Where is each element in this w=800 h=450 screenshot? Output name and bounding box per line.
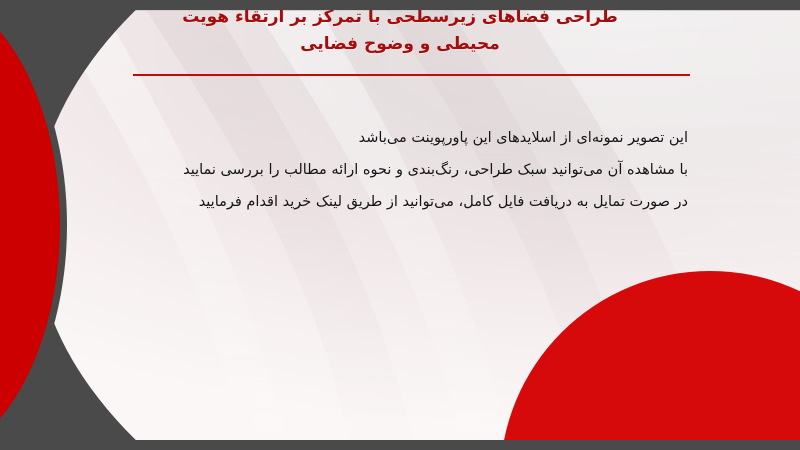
body-line-3: در صورت تمایل به دریافت فایل کامل، می‌تو… — [128, 186, 688, 218]
body-line-2: با مشاهده آن می‌توانید سبک طراحی، رنگ‌بن… — [128, 154, 688, 186]
slide-frame-bottom — [0, 440, 800, 450]
body-line-1: این تصویر نمونه‌ای از اسلایدهای این پاور… — [128, 122, 688, 154]
slide-title: طراحی فضاهای زیرسطحی با تمرکز بر ارتقاء … — [0, 4, 800, 58]
slide-title-line-2: محیطی و وضوح فضایی — [0, 31, 800, 58]
title-divider-rule — [133, 74, 690, 76]
slide-frame-top — [0, 0, 800, 10]
slide-body-text: این تصویر نمونه‌ای از اسلایدهای این پاور… — [128, 122, 688, 218]
red-corner-accent — [500, 271, 800, 442]
presentation-slide: طراحی فضاهای زیرسطحی با تمرکز بر ارتقاء … — [0, 0, 800, 450]
red-ellipse-accent — [0, 0, 60, 450]
